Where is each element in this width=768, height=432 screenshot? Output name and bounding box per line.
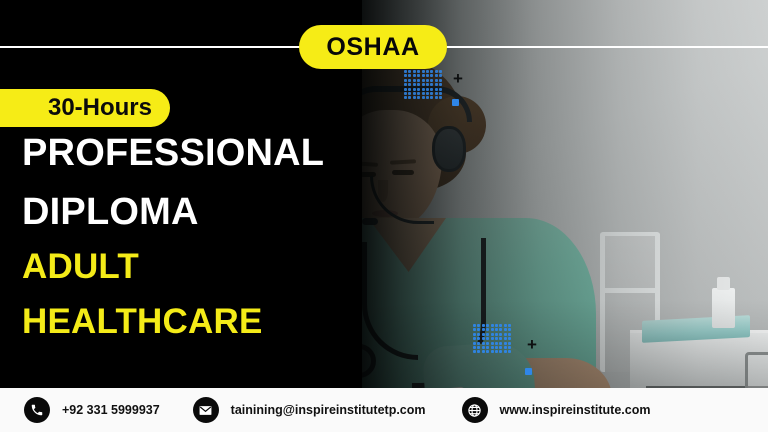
duration-badge: 30-Hours	[0, 89, 170, 127]
headline-line-professional: PROFESSIONAL	[22, 134, 324, 172]
blue-dot-top-icon	[452, 99, 459, 106]
contact-email-value: tainining@inspireinstitutetp.com	[231, 403, 426, 417]
promo-banner: OSHAA + + 30-Hours PROFESSIONAL DIPLOMA …	[0, 0, 768, 432]
contact-footer: +92 331 5999937 tainining@inspireinstitu…	[0, 388, 768, 432]
headline-block: PROFESSIONAL DIPLOMA ADULT HEALTHCARE	[22, 134, 324, 339]
email-icon	[193, 397, 219, 423]
duration-badge-label: 30-Hours	[48, 96, 152, 120]
phone-icon	[24, 397, 50, 423]
contact-phone-value: +92 331 5999937	[62, 403, 160, 417]
oshaa-brand-badge: OSHAA	[299, 25, 447, 69]
oshaa-brand-label: OSHAA	[326, 35, 419, 60]
globe-icon	[462, 397, 488, 423]
contact-phone[interactable]: +92 331 5999937	[24, 397, 160, 423]
dot-grid-bottom-icon	[473, 324, 513, 354]
plus-mark-top-icon: +	[453, 70, 463, 87]
plus-mark-bottom-icon: +	[527, 336, 537, 353]
contact-email[interactable]: tainining@inspireinstitutetp.com	[193, 397, 426, 423]
photo-bottom-vignette	[330, 300, 768, 388]
headline-line-diploma: DIPLOMA	[22, 193, 324, 231]
headline-line-adult: ADULT	[22, 249, 324, 284]
contact-website[interactable]: www.inspireinstitute.com	[462, 397, 651, 423]
blue-dot-bottom-icon	[525, 368, 532, 375]
headline-line-healthcare: HEALTHCARE	[22, 304, 324, 339]
contact-website-value: www.inspireinstitute.com	[500, 403, 651, 417]
dot-grid-top-icon	[404, 70, 440, 98]
